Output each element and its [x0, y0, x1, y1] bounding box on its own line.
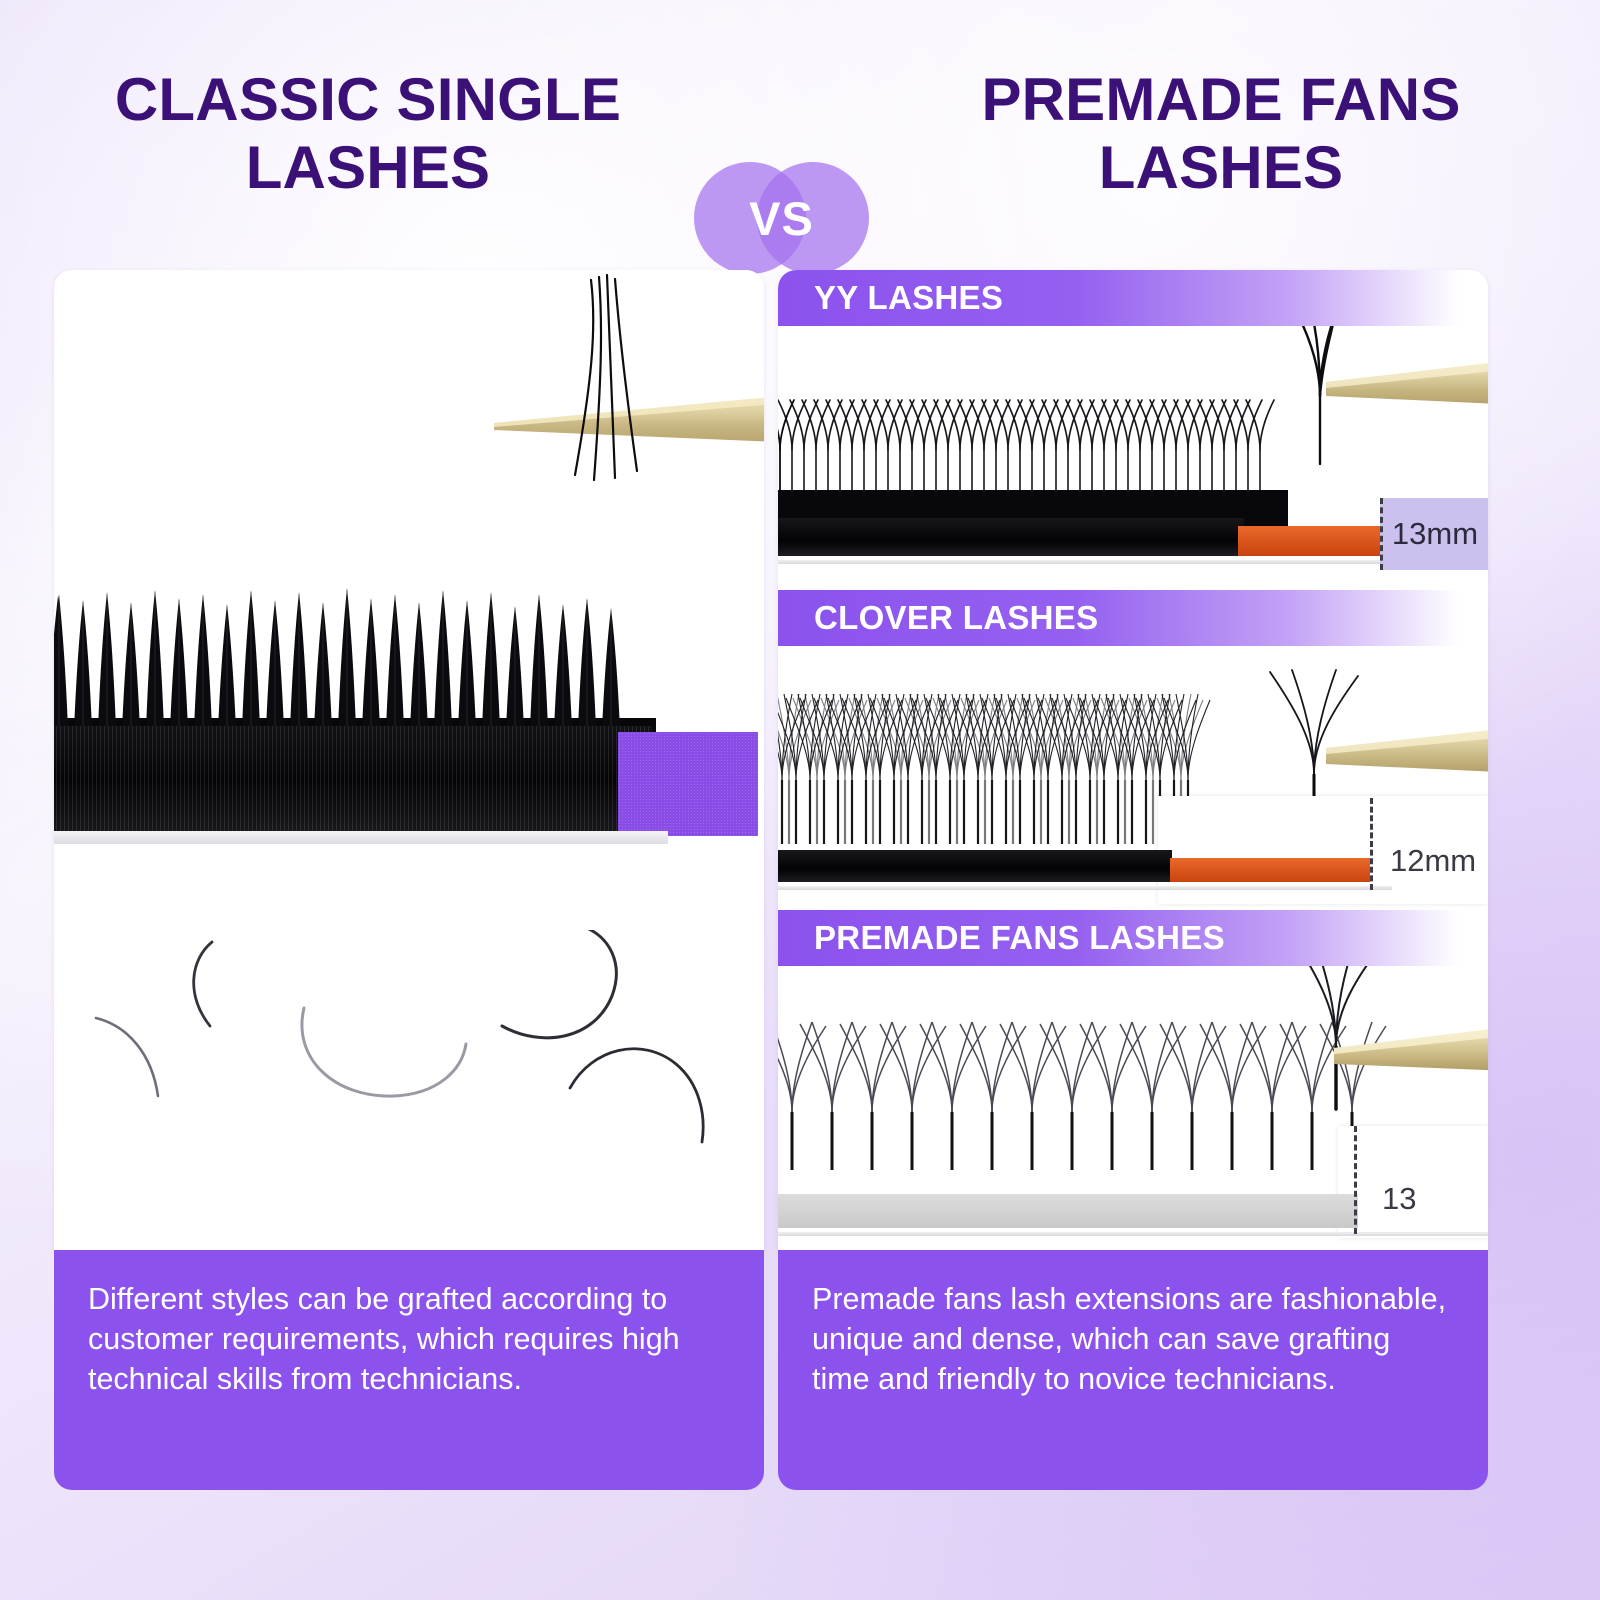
curl-arcs [94, 930, 734, 1150]
yy-lash-row [778, 378, 1294, 528]
yy-measure-label: 13mm [1380, 498, 1488, 570]
panel-yy-stage: 13mm [778, 326, 1488, 590]
premade-fans-card: YY LASHES [778, 270, 1488, 1250]
vs-label: VS [694, 162, 869, 274]
yy-base-line [778, 560, 1414, 564]
infographic-page: CLASSIC SINGLE LASHES VS PREMADE FANS LA… [0, 0, 1600, 1600]
lash-tray-strip [54, 726, 652, 832]
fans-base-line [778, 1232, 1488, 1236]
tweezer-icon [1334, 1018, 1488, 1128]
right-column: YY LASHES [778, 270, 1488, 1490]
right-heading: PREMADE FANS LASHES [886, 66, 1556, 202]
yy-black-strip [778, 518, 1244, 556]
lash-curl-diagram [54, 890, 764, 1250]
clover-measure-label: 12mm [1390, 834, 1488, 888]
tweezer-icon [1326, 346, 1488, 456]
clover-base-line [778, 886, 1392, 890]
panel-clover-label: CLOVER LASHES [778, 599, 1098, 637]
left-heading: CLASSIC SINGLE LASHES [48, 66, 688, 202]
yy-measure-dotted-line [1380, 498, 1383, 570]
left-column: Different styles can be grafted accordin… [54, 270, 764, 1490]
lash-tray-purple-tab [618, 732, 758, 836]
clover-black-strip [778, 850, 1172, 882]
panel-clover-stage: 12mm [778, 646, 1488, 910]
yy-orange-strip [1238, 526, 1388, 556]
panel-clover-banner: CLOVER LASHES [778, 590, 1488, 646]
left-caption-panel: Different styles can be grafted accordin… [54, 1250, 764, 1490]
panel-yy-banner: YY LASHES [778, 270, 1488, 326]
fans-grey-foam-strip [778, 1194, 1358, 1228]
fans-measure-label: 13 [1382, 1174, 1472, 1224]
clover-measure-dotted-line [1370, 798, 1373, 890]
vs-badge: VS [694, 162, 869, 274]
classic-lashes-card [54, 270, 764, 1250]
lash-fringe [54, 578, 656, 738]
panel-fans-stage: 13 [778, 966, 1488, 1250]
right-caption-panel: Premade fans lash extensions are fashion… [778, 1250, 1488, 1490]
panel-fans-label: PREMADE FANS LASHES [778, 919, 1225, 957]
panel-yy-lashes: YY LASHES [778, 270, 1488, 590]
right-caption-text: Premade fans lash extensions are fashion… [812, 1280, 1454, 1400]
classic-lash-tray-photo [54, 270, 764, 890]
clover-orange-strip [1170, 858, 1370, 882]
panel-premade-fans: PREMADE FANS LASHES [778, 910, 1488, 1250]
lash-tray-base [54, 831, 668, 844]
panel-yy-label: YY LASHES [778, 279, 1003, 317]
single-lash-fibers [539, 270, 669, 500]
fans-measure-dotted-line [1354, 1126, 1357, 1234]
header: CLASSIC SINGLE LASHES VS PREMADE FANS LA… [0, 66, 1600, 236]
panel-clover-lashes: CLOVER LASHES [778, 590, 1488, 910]
panel-fans-banner: PREMADE FANS LASHES [778, 910, 1488, 966]
left-caption-text: Different styles can be grafted accordin… [88, 1280, 730, 1400]
